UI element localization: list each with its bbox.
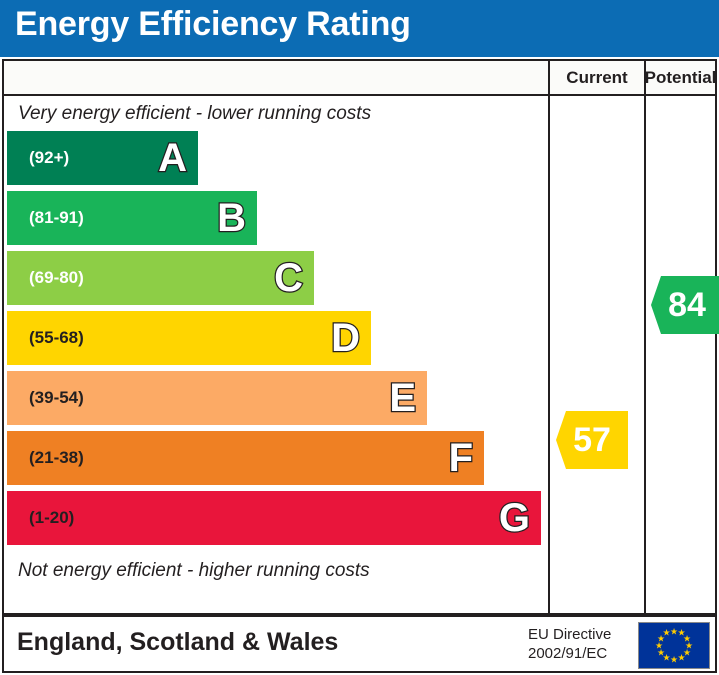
eu-star: ★ [662,629,670,638]
eu-star: ★ [677,653,685,662]
band-letter-g: G [499,498,530,538]
column-divider-current [548,96,550,615]
band-e: (39-54)E [7,371,427,425]
footer-directive: EU Directive 2002/91/EC [528,625,611,663]
band-list: (92+)A(81-91)B(69-80)C(55-68)D(39-54)E(2… [4,131,548,553]
band-letter-c: C [274,258,303,298]
band-range-label: (69-80) [29,268,84,288]
band-range-label: (1-20) [29,508,74,528]
rating-badge-current: 57 [556,411,628,469]
column-divider-potential [644,96,646,615]
caption-very-efficient: Very energy efficient - lower running co… [4,96,548,131]
band-f: (21-38)F [7,431,484,485]
band-letter-a: A [158,138,187,178]
band-range-label: (81-91) [29,208,84,228]
column-header-row: Current Potential [4,61,715,96]
directive-line-2: 2002/91/EC [528,644,611,663]
rating-badge-potential: 84 [651,276,719,334]
band-d: (55-68)D [7,311,371,365]
band-b: (81-91)B [7,191,257,245]
band-letter-e: E [389,378,416,418]
band-letter-f: F [449,438,473,478]
band-range-label: (55-68) [29,328,84,348]
directive-line-1: EU Directive [528,625,611,644]
band-range-label: (92+) [29,148,69,168]
rating-table: Current Potential Very energy efficient … [2,59,717,615]
band-g: (1-20)G [7,491,541,545]
footer-region-label: England, Scotland & Wales [17,628,338,657]
page-title: Energy Efficiency Rating [15,5,411,44]
band-letter-d: D [331,318,360,358]
caption-not-efficient: Not energy efficient - higher running co… [4,553,548,589]
eu-flag-icon: ★★★★★★★★★★★★ [638,622,710,669]
band-range-label: (39-54) [29,388,84,408]
footer-bar: England, Scotland & Wales EU Directive 2… [2,615,717,673]
chart-title-bar: Energy Efficiency Rating [0,0,719,57]
eu-star: ★ [670,655,678,664]
column-header-potential: Potential [644,61,715,94]
energy-efficiency-certificate: Energy Efficiency Rating Current Potenti… [0,0,719,675]
column-header-current: Current [548,61,644,94]
band-a: (92+)A [7,131,198,185]
band-range-label: (21-38) [29,448,84,468]
band-c: (69-80)C [7,251,314,305]
band-letter-b: B [217,198,246,238]
